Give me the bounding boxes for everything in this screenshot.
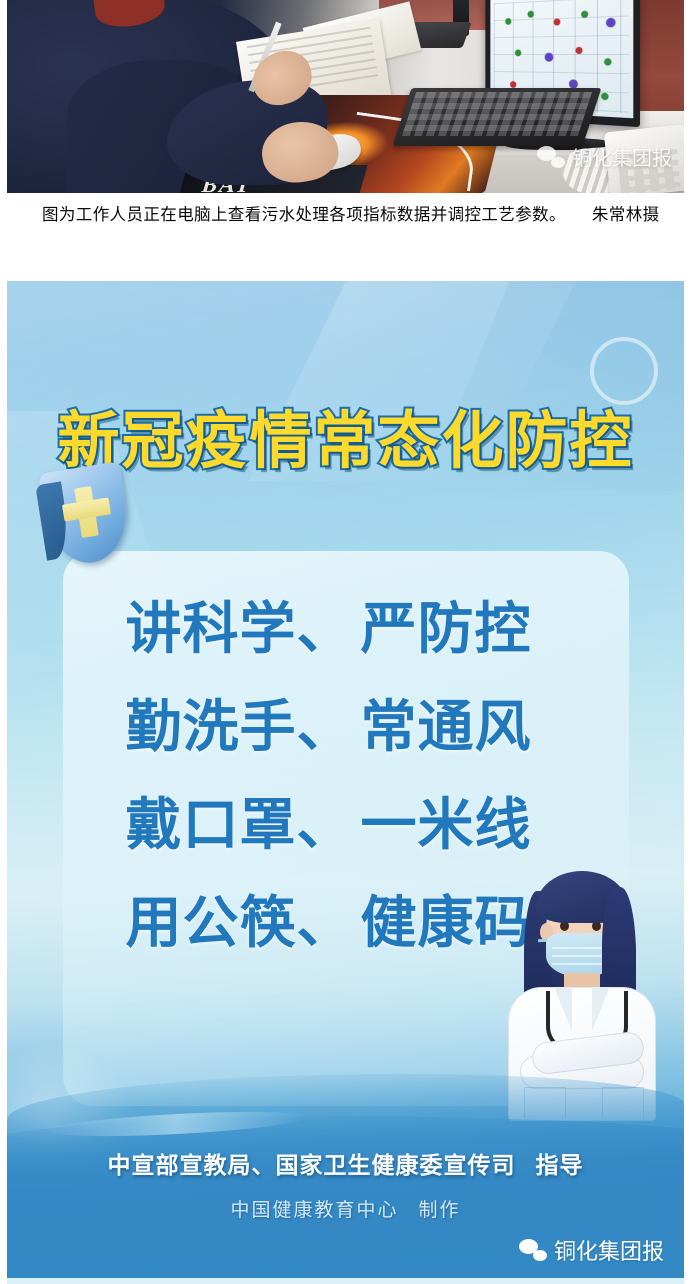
page-bottom-strip <box>7 1278 684 1284</box>
slogan-segment-a: 戴口罩、 <box>126 777 361 875</box>
poster-watermark-label: 铜化集团报 <box>554 1234 664 1266</box>
footer-guidance-role: 指导 <box>536 1153 584 1179</box>
caption-text: 图为工作人员正在电脑上查看污水处理各项指标数据并调控工艺参数。 <box>42 205 566 224</box>
slogan-segment-a: 勤洗手、 <box>126 679 361 777</box>
keyboard-keys <box>402 92 592 136</box>
poster-watermark: 铜化集团报 <box>519 1234 664 1266</box>
covid-prevention-poster: 新冠疫情常态化防控 讲科学、 严防控 勤洗手、 常通风 戴口罩、 一米线 用公筷… <box>7 281 684 1284</box>
photo-caption: 图为工作人员正在电脑上查看污水处理各项指标数据并调控工艺参数。朱常林摄 <box>8 200 684 229</box>
slogan-line: 戴口罩、 一米线 <box>7 777 684 875</box>
slogan-segment-b: 一米线 <box>361 777 566 875</box>
worker-at-computer-photo: BAT 铜化集团报 <box>7 0 684 193</box>
article-page: BAT 铜化集团报 图为工作人员正在电脑上查看污水处理各项指标数据并调控工艺参数… <box>0 0 691 1284</box>
slogan-line: 讲科学、 严防控 <box>7 581 684 679</box>
poster-footer-producer: 中国健康教育中心制作 <box>7 1195 684 1222</box>
photo-watermark: 铜化集团报 <box>537 142 672 171</box>
decorative-ring <box>590 337 658 405</box>
slogan-segment-b: 常通风 <box>361 679 566 777</box>
slogan-line: 勤洗手、 常通风 <box>7 679 684 777</box>
footer-producer-org: 中国健康教育中心 <box>230 1200 398 1221</box>
slogan-segment-b: 严防控 <box>361 581 566 679</box>
footer-producer-role: 制作 <box>419 1200 461 1221</box>
slogan-segment-a: 讲科学、 <box>126 581 361 679</box>
wechat-icon <box>519 1239 547 1261</box>
caption-credit-suffix: 摄 <box>643 205 660 224</box>
photo-watermark-label: 铜化集团报 <box>572 142 672 171</box>
wechat-icon <box>537 146 565 168</box>
caption-credit: 朱常林 <box>592 205 643 224</box>
poster-footer-guidance: 中宣部宣教局、国家卫生健康委宣传司指导 <box>7 1146 684 1180</box>
footer-guidance-orgs: 中宣部宣教局、国家卫生健康委宣传司 <box>108 1153 516 1179</box>
shield-cross-icon <box>45 467 127 563</box>
slogan-segment-a: 用公筷、 <box>126 875 361 973</box>
